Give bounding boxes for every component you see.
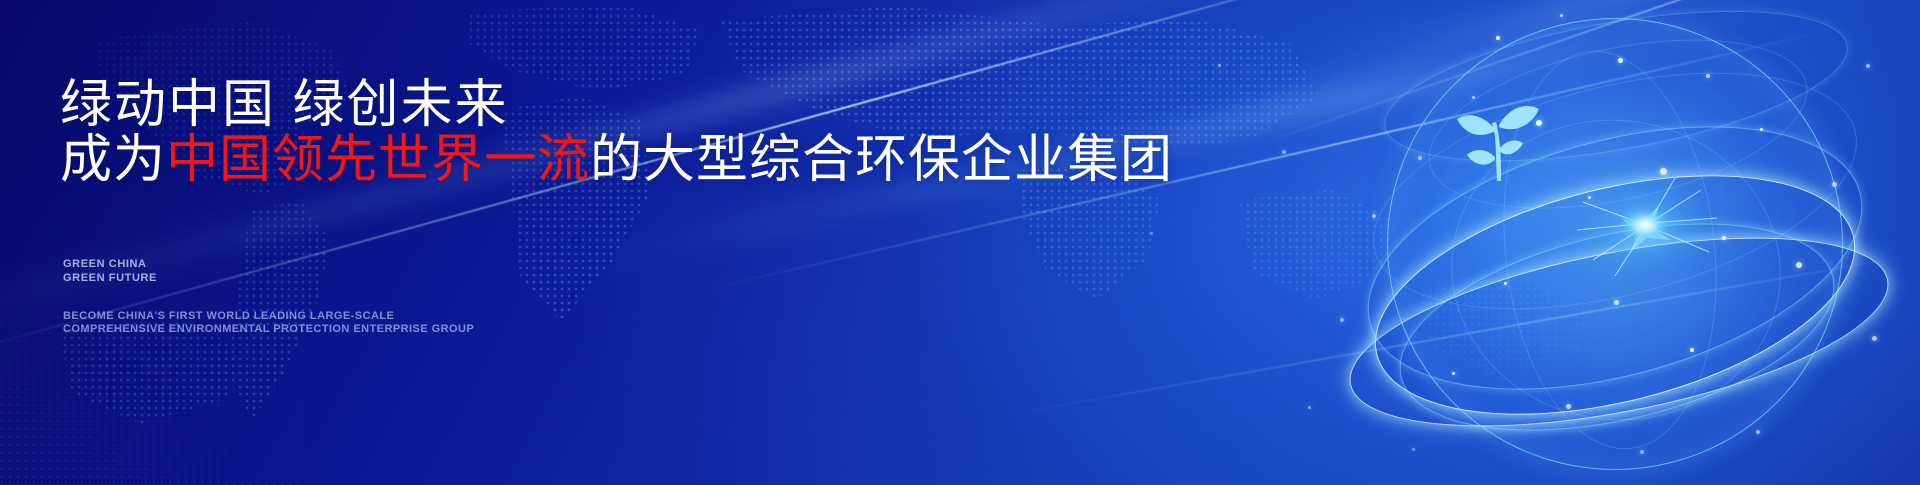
- headline-line-1: 绿动中国 绿创未来: [60, 78, 508, 133]
- subtitle-line-2: GREEN FUTURE: [63, 272, 157, 286]
- globe-ring: [1339, 78, 1891, 437]
- globe-sphere: [1387, 18, 1843, 470]
- globe-meridian: [1387, 18, 1843, 470]
- subtitle-english: GREEN CHINA GREEN FUTURE: [63, 258, 157, 285]
- globe-ring: [1413, 10, 1822, 239]
- headline-accent: 中国领先世界一流: [166, 131, 590, 189]
- globe-ring: [1485, 40, 1736, 460]
- banner-copy: 绿动中国 绿创未来 成为中国领先世界一流的大型综合环保企业集团 GREEN CH…: [60, 0, 1110, 485]
- globe-glow: [1375, 10, 1855, 480]
- globe-ring: [1432, 98, 1801, 441]
- headline-line-2: 成为中国领先世界一流的大型综合环保企业集团: [60, 133, 1173, 188]
- tagline-line-2: COMPREHENSIVE ENVIRONMENTAL PROTECTION E…: [63, 323, 474, 336]
- sprout-icon: [1451, 95, 1543, 187]
- globe-ring: [1380, 186, 1854, 467]
- tagline-line-1: BECOME CHINA'S FIRST WORLD LEADING LARGE…: [63, 310, 474, 323]
- globe-ring: [1350, 132, 1879, 459]
- subtitle-line-1: GREEN CHINA: [63, 258, 157, 272]
- headline-prefix: 成为: [60, 131, 166, 189]
- headline-suffix: 的大型综合环保企业集团: [590, 131, 1173, 189]
- tagline-english: BECOME CHINA'S FIRST WORLD LEADING LARGE…: [63, 310, 474, 336]
- globe-ring: [1335, 201, 1903, 463]
- globe-ring: [1373, 0, 1858, 190]
- globe-ring: [1349, 29, 1881, 353]
- hero-banner: 绿动中国 绿创未来 成为中国领先世界一流的大型综合环保企业集团 GREEN CH…: [0, 0, 1920, 485]
- wireframe-globe: [1355, 0, 1875, 485]
- star-burst: [1567, 168, 1727, 288]
